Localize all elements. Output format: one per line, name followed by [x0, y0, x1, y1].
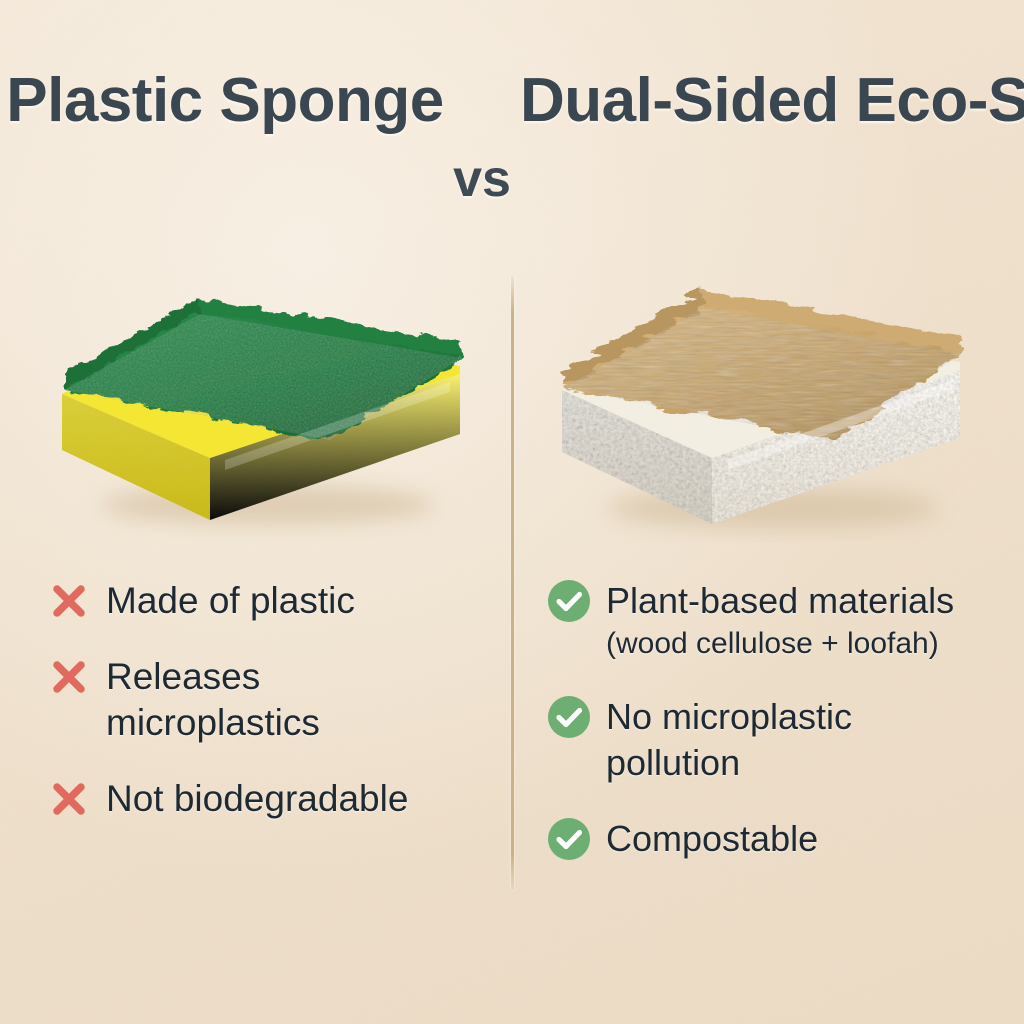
list-item: Compostable [546, 816, 1016, 862]
left-column-title: Plastic Sponge [0, 62, 450, 140]
header-titles: Plastic Sponge vs Dual-Sided Eco-Sponge [0, 62, 1024, 227]
plastic-sponge-illustration [30, 262, 490, 542]
column-divider [511, 276, 514, 890]
list-item-label: Compostable [606, 816, 818, 862]
vs-label: vs [432, 140, 532, 218]
list-item-label: Plant-based materials (wood cellulose + … [606, 578, 954, 664]
list-item-label: Releases microplastics [106, 654, 406, 746]
list-item: Plant-based materials (wood cellulose + … [546, 578, 1016, 664]
list-item-label: No microplastic pollution [606, 694, 936, 786]
comparison-infographic: Plastic Sponge vs Dual-Sided Eco-Sponge [0, 0, 1024, 1024]
list-item-label: Not biodegradable [106, 776, 408, 822]
plastic-sponge-cons-list: Made of plastic Releases microplastics [46, 578, 496, 822]
check-icon [546, 816, 592, 862]
list-item: No microplastic pollution [546, 694, 1016, 786]
list-item: Not biodegradable [46, 776, 496, 822]
list-item: Made of plastic [46, 578, 496, 624]
list-item-text: Plant-based materials [606, 580, 954, 621]
check-icon [546, 578, 592, 624]
cross-icon [46, 776, 92, 822]
cross-icon [46, 578, 92, 624]
cross-icon [46, 654, 92, 700]
list-item: Releases microplastics [46, 654, 496, 746]
check-icon [546, 694, 592, 740]
eco-sponge-pros-list: Plant-based materials (wood cellulose + … [546, 578, 1016, 862]
list-item-subtext: (wood cellulose + loofah) [606, 624, 954, 664]
eco-sponge-illustration [540, 262, 1000, 542]
right-column-title: Dual-Sided Eco-Sponge [520, 62, 1024, 140]
list-item-label: Made of plastic [106, 578, 355, 624]
